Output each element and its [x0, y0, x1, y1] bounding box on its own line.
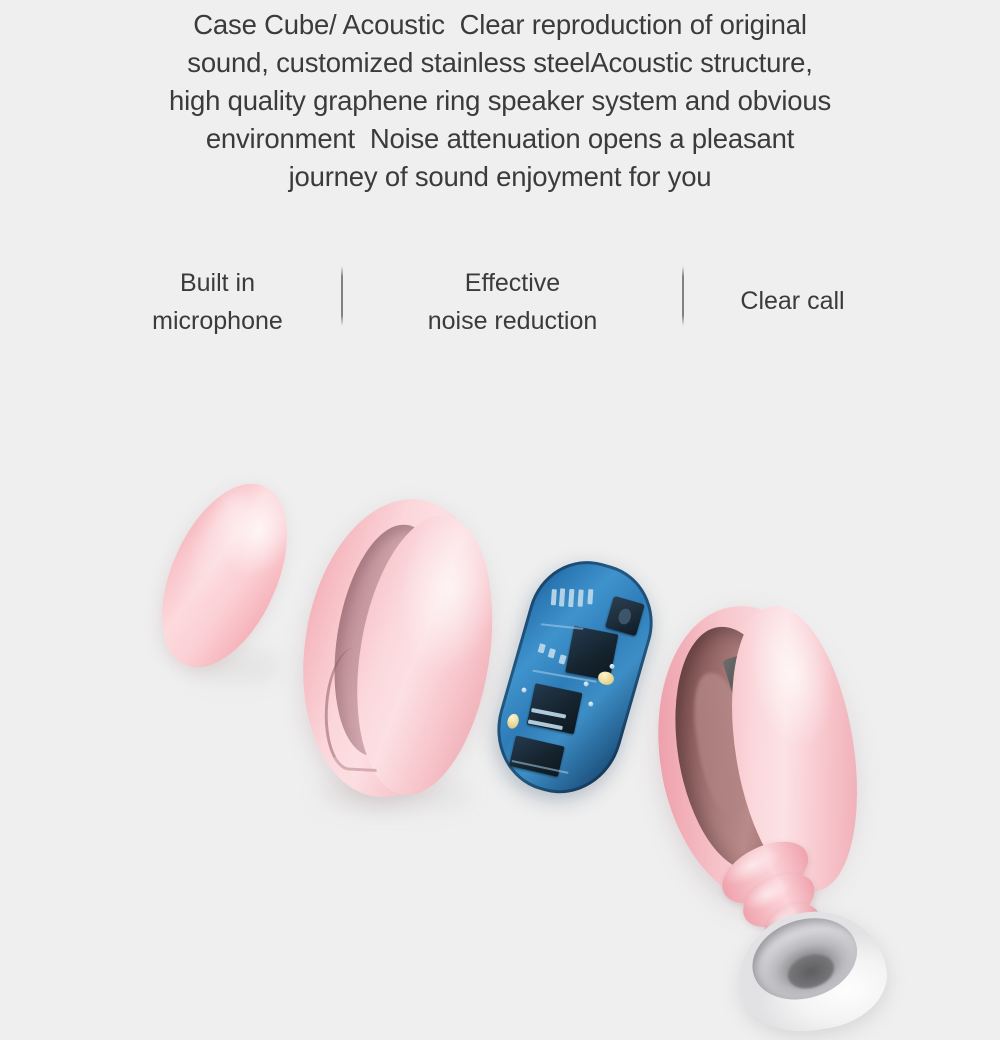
component-circuit-board [482, 547, 667, 807]
component-back-cap [137, 465, 312, 686]
description-line-2: sound, customized stainless steelAcousti… [0, 44, 1000, 82]
description-line-3: high quality graphene ring speaker syste… [0, 82, 1000, 120]
description-line-4: environment Noise attenuation opens a pl… [0, 120, 1000, 158]
feature-1-line-2: microphone [110, 302, 325, 340]
feature-2-line-1: Effective [360, 264, 665, 302]
feature-effective-noise-reduction: Effective noise reduction [360, 264, 665, 340]
product-description-block: Case Cube/ Acoustic Clear reproduction o… [0, 0, 1000, 196]
component-ear-tip [731, 902, 894, 1039]
feature-built-in-microphone: Built in microphone [110, 264, 325, 340]
feature-clear-call: Clear call [700, 282, 885, 320]
exploded-earbud-diagram [0, 430, 1000, 1000]
pcb-edge-outline [482, 547, 667, 807]
feature-1-line-1: Built in [110, 264, 325, 302]
feature-3-line-1: Clear call [700, 282, 885, 320]
feature-divider-2 [682, 266, 684, 326]
feature-divider-1 [341, 266, 343, 326]
feature-2-line-2: noise reduction [360, 302, 665, 340]
component-collar-ring [283, 485, 513, 810]
feature-highlights-row: Built in microphone Effective noise redu… [0, 258, 1000, 358]
ear-tip-bore-inner [784, 950, 838, 994]
description-line-5: journey of sound enjoyment for you [0, 158, 1000, 196]
description-line-1: Case Cube/ Acoustic Clear reproduction o… [0, 6, 1000, 44]
